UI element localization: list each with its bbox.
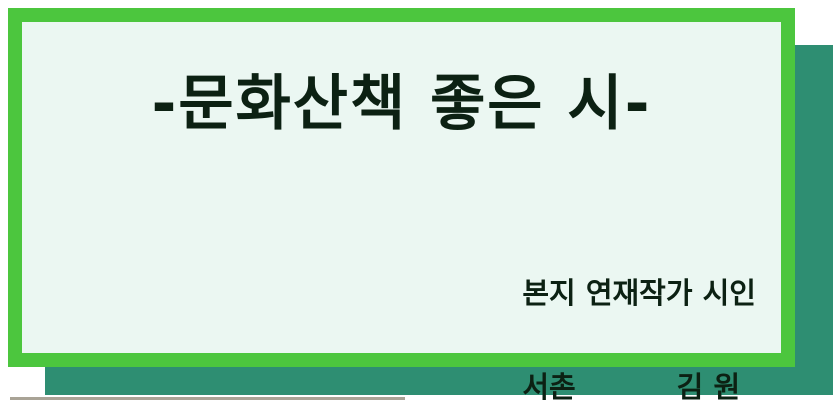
bottom-divider-rule <box>10 397 405 400</box>
byline-role-line: 본지 연재작가 시인 <box>522 278 756 309</box>
green-border-frame: -문화산책 좋은 시- 본지 연재작가 시인 서촌 김 원 <box>8 8 795 367</box>
byline-name-line: 서촌 김 원 <box>522 372 756 403</box>
slide-canvas: -문화산책 좋은 시- 본지 연재작가 시인 서촌 김 원 <box>0 0 838 404</box>
slide-content-panel: -문화산책 좋은 시- 본지 연재작가 시인 서촌 김 원 <box>22 22 781 353</box>
author-byline: 본지 연재작가 시인 서촌 김 원 <box>522 215 756 404</box>
slide-title: -문화산책 좋은 시- <box>22 74 781 134</box>
